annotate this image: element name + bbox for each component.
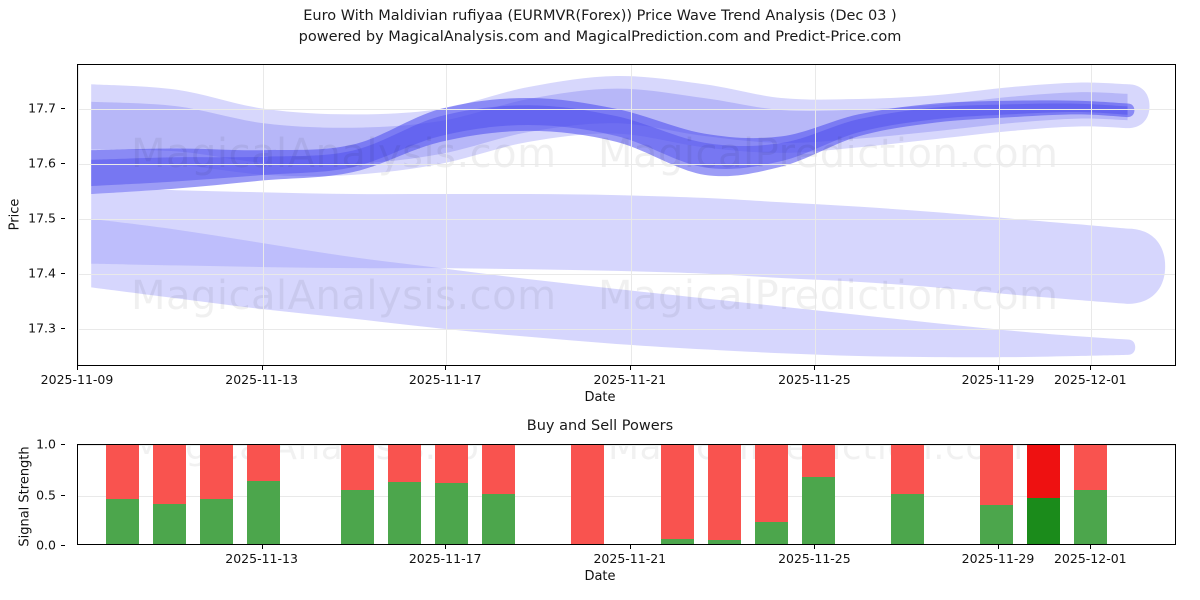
power-bar[interactable] <box>980 444 1013 544</box>
wave-gridline-h-3 <box>78 164 1175 165</box>
power-xtick-label-5: 2025-12-01 <box>1054 551 1127 566</box>
wave-ytick-mark-2 <box>61 218 65 219</box>
power-bar[interactable] <box>755 444 788 544</box>
page-title: Euro With Maldivian rufiyaa (EURMVR(Fore… <box>0 6 1200 48</box>
power-xtick-mark-1 <box>445 545 446 549</box>
wave-xtick-label-6: 2025-12-01 <box>1054 372 1127 387</box>
power-bar-buy-segment <box>106 499 139 545</box>
power-xtick-label-3: 2025-11-25 <box>778 551 851 566</box>
power-bar-sell-segment <box>891 444 924 494</box>
wave-xtick-label-3: 2025-11-21 <box>593 372 666 387</box>
wave-ytick-label-3: 17.6 <box>28 155 56 170</box>
power-xtick-mark-4 <box>998 545 999 549</box>
wave-xtick-label-2: 2025-11-17 <box>409 372 482 387</box>
wave-xtick-mark-4 <box>814 366 815 370</box>
power-bar-buy-segment <box>388 482 421 544</box>
power-xtick-label-1: 2025-11-17 <box>409 551 482 566</box>
wave-ytick-mark-0 <box>61 328 65 329</box>
wave-gridline-v-0 <box>78 65 79 365</box>
wave-gridline-v-5 <box>999 65 1000 365</box>
power-bar[interactable] <box>661 444 694 544</box>
power-xtick-mark-5 <box>1090 545 1091 549</box>
price-wave-bands <box>78 65 1176 366</box>
power-bar-sell-segment <box>153 444 186 504</box>
wave-xtick-label-0: 2025-11-09 <box>41 372 114 387</box>
wave-xtick-label-1: 2025-11-13 <box>225 372 298 387</box>
title-line-1: Euro With Maldivian rufiyaa (EURMVR(Fore… <box>0 6 1200 27</box>
power-bar-buy-segment <box>200 499 233 545</box>
wave-xtick-mark-0 <box>77 366 78 370</box>
power-bar-sell-segment <box>755 444 788 522</box>
power-xtick-label-2: 2025-11-21 <box>593 551 666 566</box>
power-bar[interactable] <box>388 444 421 544</box>
price-wave-plot-area: MagicalAnalysis.com MagicalPrediction.co… <box>77 64 1176 366</box>
power-bar-buy-segment <box>482 494 515 545</box>
power-bar[interactable] <box>802 444 835 544</box>
wave-xtick-mark-6 <box>1090 366 1091 370</box>
power-bar[interactable] <box>708 444 741 544</box>
power-xtick-label-4: 2025-11-29 <box>962 551 1035 566</box>
power-bar[interactable] <box>341 444 374 544</box>
power-bar-buy-segment <box>1027 498 1060 545</box>
wave-xtick-mark-2 <box>445 366 446 370</box>
power-bar-buy-segment <box>891 494 924 545</box>
power-bar-sell-segment <box>980 444 1013 505</box>
wave-gridline-v-4 <box>815 65 816 365</box>
wave-gridline-h-1 <box>78 274 1175 275</box>
power-bar[interactable] <box>1074 444 1107 544</box>
power-bar-buy-segment <box>435 483 468 544</box>
wave-gridline-v-2 <box>446 65 447 365</box>
wave-ytick-label-0: 17.3 <box>28 320 56 335</box>
power-bar[interactable] <box>891 444 924 544</box>
power-bar-sell-segment <box>106 444 139 499</box>
wave-xtick-mark-3 <box>630 366 631 370</box>
wave-ytick-label-4: 17.7 <box>28 100 56 115</box>
power-bar-sell-segment <box>388 444 421 482</box>
power-bar-buy-segment <box>708 540 741 544</box>
buy-sell-powers-plot-area: MagicalAnalysis.com MagicalPrediction.co… <box>77 444 1176 545</box>
power-xtick-mark-3 <box>814 545 815 549</box>
wave-ytick-mark-3 <box>61 163 65 164</box>
power-bar[interactable] <box>200 444 233 544</box>
power-bar-buy-segment <box>980 505 1013 544</box>
power-bar[interactable] <box>247 444 280 544</box>
wave-xtick-mark-1 <box>262 366 263 370</box>
wave-ytick-label-2: 17.5 <box>28 210 56 225</box>
power-ytick-mark-2 <box>61 444 65 445</box>
wave-ytick-mark-4 <box>61 108 65 109</box>
power-ytick-mark-1 <box>61 495 65 496</box>
chart-figure: Euro With Maldivian rufiyaa (EURMVR(Fore… <box>0 0 1200 600</box>
wave-xtick-mark-5 <box>998 366 999 370</box>
power-chart-title: Buy and Sell Powers <box>0 418 1200 434</box>
power-bar-buy-segment <box>755 522 788 544</box>
wave-xtick-label-4: 2025-11-25 <box>778 372 851 387</box>
wave-x-axis-label: Date <box>0 390 1200 405</box>
wave-y-axis-label: Price <box>8 155 23 275</box>
power-bar-sell-segment <box>1074 444 1107 490</box>
power-bar-buy-segment <box>802 477 835 544</box>
power-bar-sell-segment <box>1027 444 1060 498</box>
wave-gridline-v-1 <box>263 65 264 365</box>
power-bar-sell-segment <box>708 444 741 540</box>
power-bar[interactable] <box>106 444 139 544</box>
wave-xtick-label-5: 2025-11-29 <box>962 372 1035 387</box>
power-bar-sell-segment <box>435 444 468 483</box>
power-bar-sell-segment <box>802 444 835 477</box>
title-line-2: powered by MagicalAnalysis.com and Magic… <box>0 27 1200 48</box>
power-bar[interactable] <box>482 444 515 544</box>
power-xtick-mark-0 <box>262 545 263 549</box>
power-xtick-mark-2 <box>630 545 631 549</box>
power-x-axis: 2025-11-132025-11-172025-11-212025-11-25… <box>0 545 1200 567</box>
wave-ytick-mark-1 <box>61 273 65 274</box>
power-bar[interactable] <box>435 444 468 544</box>
power-ytick-label-2: 1.0 <box>36 437 56 452</box>
power-bar-sell-segment <box>247 444 280 481</box>
power-x-axis-label: Date <box>0 569 1200 584</box>
power-bar-sell-segment <box>341 444 374 490</box>
power-xtick-label-0: 2025-11-13 <box>225 551 298 566</box>
power-bar-buy-segment <box>153 504 186 544</box>
power-bar-sell-segment <box>661 444 694 539</box>
power-bar-sell-segment <box>200 444 233 499</box>
power-bar-buy-segment <box>247 481 280 544</box>
wave-ytick-label-1: 17.4 <box>28 265 56 280</box>
power-bar[interactable] <box>1027 444 1060 544</box>
wave-gridline-v-3 <box>631 65 632 365</box>
power-bar-sell-segment <box>482 444 515 494</box>
power-y-axis-label: Signal Strength <box>18 417 33 577</box>
wave-gridline-v-6 <box>1091 65 1092 365</box>
wave-x-axis: 2025-11-092025-11-132025-11-172025-11-21… <box>0 366 1200 388</box>
power-bar-buy-segment <box>341 490 374 545</box>
power-bar[interactable] <box>571 444 604 544</box>
power-bar-buy-segment <box>1074 490 1107 545</box>
power-y-axis: 0.00.51.0 <box>0 444 66 545</box>
power-bar-sell-segment <box>571 444 604 544</box>
wave-gridline-h-2 <box>78 219 1175 220</box>
power-ytick-label-1: 0.5 <box>36 487 56 502</box>
wave-gridline-h-4 <box>78 109 1175 110</box>
power-bar-buy-segment <box>661 539 694 544</box>
wave-gridline-h-0 <box>78 329 1175 330</box>
power-bar[interactable] <box>153 444 186 544</box>
